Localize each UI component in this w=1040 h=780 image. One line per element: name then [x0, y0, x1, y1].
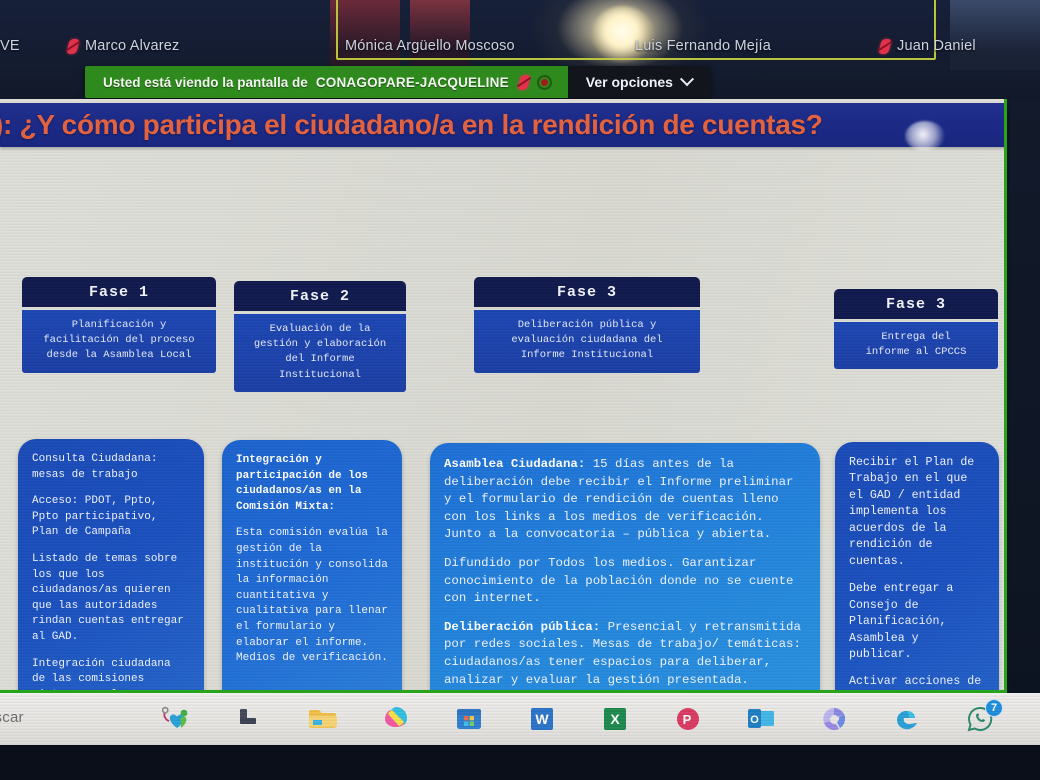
card-fase-3b: Recibir el Plan de Trabajo en el que el … — [835, 442, 999, 693]
phase-label: Fase 3 — [474, 277, 700, 307]
phase-label: Fase 1 — [22, 277, 216, 307]
card-paragraph-lead: Asamblea Ciudadana: — [444, 457, 585, 471]
view-options-label: Ver opciones — [586, 74, 673, 90]
notification-badge: 7 — [985, 699, 1003, 717]
share-message-text: Usted está viendo la pantalla de — [103, 75, 308, 90]
card-paragraph: Deliberación pública: Presencial y retra… — [444, 619, 806, 689]
share-message: Usted está viendo la pantalla de CONAGOP… — [85, 66, 568, 98]
phase-header-fase-3: Fase 3Deliberación pública yevaluación c… — [474, 277, 700, 373]
participant-name-list: VEMarco AlvarezMónica Argüello MoscosoLu… — [0, 33, 1040, 59]
share-host-name: CONAGOPARE-JACQUELINE — [316, 75, 509, 90]
participant-name[interactable]: VE — [0, 33, 20, 59]
slide-title: ): ¿Y cómo participa el ciudadano/a en l… — [0, 109, 823, 141]
card-paragraph: Integración y participación de los ciuda… — [236, 453, 388, 515]
card-content: Consulta Ciudadana: mesas de trabajoAcce… — [18, 439, 204, 693]
muted-mic-icon — [66, 39, 80, 54]
phase-header-fase-2: Fase 2Evaluación de lagestión y elaborac… — [234, 281, 406, 392]
svg-text:X: X — [610, 711, 620, 727]
taskbar-icon-strip: WXPO7 — [160, 693, 1040, 745]
card-paragraph: Acceso: PDOT, Ppto, Ppto participativo, … — [32, 494, 190, 541]
edge-icon[interactable] — [890, 702, 924, 736]
svg-text:O: O — [750, 714, 759, 726]
participant-name-label: Juan Daniel — [897, 38, 976, 54]
card-content: Integración y participación de los ciuda… — [222, 440, 402, 679]
card-fase-3: Asamblea Ciudadana: 15 días antes de la … — [430, 443, 820, 693]
card-paragraph: Consulta Ciudadana: mesas de trabajo — [32, 452, 190, 483]
view-options-button[interactable]: Ver opciones — [568, 66, 710, 98]
word-icon[interactable]: W — [525, 702, 559, 736]
phase-description: Entrega delinforme al CPCCS — [834, 322, 998, 369]
participant-name-label: Mónica Argüello Moscoso — [345, 38, 515, 54]
participant-name[interactable]: Juan Daniel — [880, 33, 976, 59]
participant-name-label: Marco Alvarez — [85, 38, 179, 54]
health-heart-icon[interactable] — [160, 702, 194, 736]
card-content: Recibir el Plan de Trabajo en el que el … — [835, 442, 999, 693]
desktop-bottom-bezel — [0, 745, 1040, 780]
chevron-down-icon — [680, 72, 694, 86]
card-paragraph: Asamblea Ciudadana: 15 días antes de la … — [444, 456, 806, 544]
firefox-icon[interactable] — [1036, 702, 1040, 736]
microsoft-365-icon[interactable] — [379, 702, 413, 736]
slide-title-band: ): ¿Y cómo participa el ciudadano/a en l… — [0, 103, 1007, 147]
outlook-icon[interactable]: O — [744, 702, 778, 736]
shared-screen-area[interactable]: ): ¿Y cómo participa el ciudadano/a en l… — [0, 99, 1007, 693]
card-fase-1: Consulta Ciudadana: mesas de trabajoAcce… — [18, 439, 204, 693]
card-paragraph-lead: Integración y participación de los ciuda… — [236, 454, 368, 513]
file-explorer-icon[interactable] — [306, 702, 340, 736]
card-paragraph: Activar acciones de control social — [849, 674, 985, 693]
record-dot-icon — [537, 75, 552, 90]
desktop-right-strip — [1010, 99, 1040, 693]
taskbar-search-label[interactable]: uscar — [0, 709, 24, 726]
card-paragraph: Integración ciudadana de las comisiones … — [32, 657, 190, 693]
svg-text:P: P — [683, 712, 692, 727]
phase-description: Deliberación pública yevaluación ciudada… — [474, 310, 700, 373]
card-paragraph: Difundido por Todos los medios. Garantiz… — [444, 555, 806, 608]
card-paragraph-lead: Deliberación pública: — [444, 620, 600, 634]
participant-name[interactable]: Luis Fernando Mejía — [635, 33, 771, 59]
participant-name[interactable]: Mónica Argüello Moscoso — [345, 33, 515, 59]
whatsapp-icon[interactable]: 7 — [963, 702, 997, 736]
share-status-icons — [519, 75, 552, 90]
svg-text:W: W — [535, 711, 549, 727]
screen-glare — [905, 121, 945, 151]
participant-name-label: VE — [0, 38, 20, 54]
card-paragraph: Recibir el Plan de Trabajo en el que el … — [849, 455, 985, 570]
teams-l-icon[interactable] — [233, 702, 267, 736]
muted-mic-icon — [878, 39, 892, 54]
participant-name-label: Luis Fernando Mejía — [635, 38, 771, 54]
phase-label: Fase 2 — [234, 281, 406, 311]
card-paragraph: Esta comisión evalúa la gestión de la in… — [236, 526, 388, 666]
powerpoint-icon[interactable]: P — [671, 702, 705, 736]
phase-header-fase-1: Fase 1Planificación yfacilitación del pr… — [22, 277, 216, 373]
card-content: Asamblea Ciudadana: 15 días antes de la … — [430, 443, 820, 693]
phase-label: Fase 3 — [834, 289, 998, 319]
microsoft-store-icon[interactable] — [452, 702, 486, 736]
screen-root: VEMarco AlvarezMónica Argüello MoscosoLu… — [0, 0, 1040, 780]
slide-body: Fase 1Planificación yfacilitación del pr… — [0, 151, 1007, 693]
teams-icon[interactable] — [817, 702, 851, 736]
screen-share-banner: Usted está viendo la pantalla de CONAGOP… — [85, 66, 710, 98]
card-fase-2: Integración y participación de los ciuda… — [222, 440, 402, 693]
phase-header-fase-3b: Fase 3Entrega delinforme al CPCCS — [834, 289, 998, 369]
muted-mic-icon — [517, 75, 531, 90]
excel-icon[interactable]: X — [598, 702, 632, 736]
card-paragraph: Listado de temas sobre los que los ciuda… — [32, 552, 190, 646]
participant-name[interactable]: Marco Alvarez — [68, 33, 179, 59]
card-paragraph: Debe entregar a Consejo de Planificación… — [849, 581, 985, 663]
phase-description: Evaluación de lagestión y elaboracióndel… — [234, 314, 406, 392]
windows-taskbar[interactable]: uscar WXPO7 — [0, 693, 1040, 745]
phase-description: Planificación yfacilitación del procesod… — [22, 310, 216, 373]
